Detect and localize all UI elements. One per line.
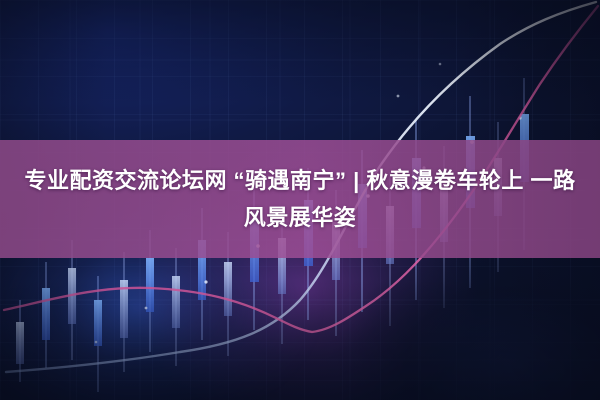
- stock-banner-image: 专业配资交流论坛网 “骑遇南宁” | 秋意漫卷车轮上 一路风景展华姿: [0, 0, 600, 400]
- banner-title: 专业配资交流论坛网 “骑遇南宁” | 秋意漫卷车轮上 一路风景展华姿: [10, 162, 590, 236]
- title-banner-band: 专业配资交流论坛网 “骑遇南宁” | 秋意漫卷车轮上 一路风景展华姿: [0, 140, 600, 258]
